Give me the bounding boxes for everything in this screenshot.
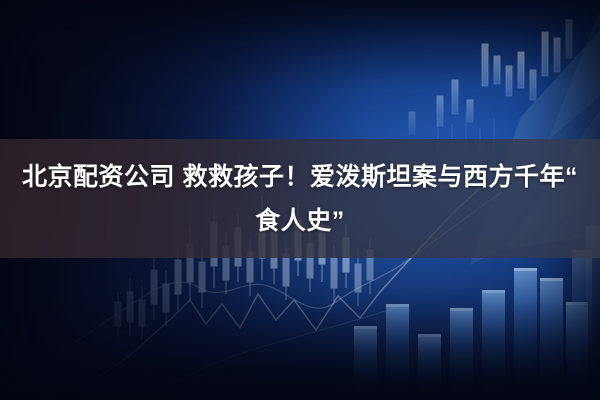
thumbnail-image: 北京配资公司 救救孩子！爱泼斯坦案与西方千年“ 食人史” bbox=[0, 0, 600, 400]
title-overlay-band: 北京配资公司 救救孩子！爱泼斯坦案与西方千年“ 食人史” bbox=[0, 139, 600, 258]
page-title-line-2: 食人史” bbox=[255, 199, 345, 243]
page-title-line-1: 北京配资公司 救救孩子！爱泼斯坦案与西方千年“ bbox=[22, 155, 578, 199]
